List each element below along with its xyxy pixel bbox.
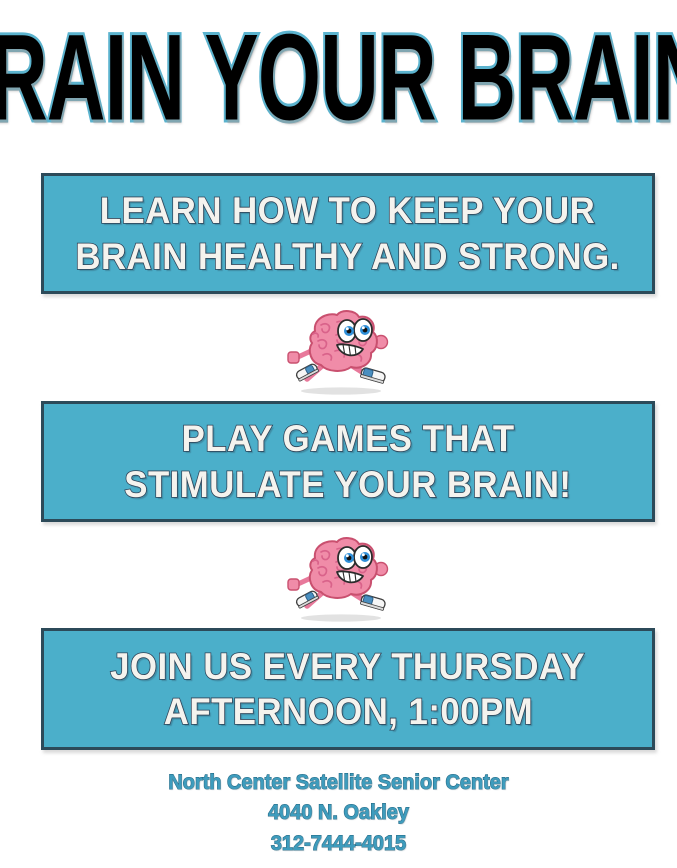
venue-name: North Center Satellite Senior Center [17, 768, 660, 798]
learn-banner-line-1: LEARN HOW TO KEEP YOUR [100, 188, 595, 233]
learn-banner-line-2: BRAIN HEALTHY AND STRONG. [76, 234, 620, 279]
schedule-banner-line-2: AFTERNOON, 1:00PM [163, 689, 532, 734]
schedule-banner: JOIN US EVERY THURSDAY AFTERNOON, 1:00PM [41, 628, 655, 750]
flyer-page: TRAIN YOUR BRAIN! LEARN HOW TO KEEP YOUR… [0, 0, 677, 868]
venue-address: 4040 N. Oakley [17, 798, 660, 828]
learn-banner: LEARN HOW TO KEEP YOUR BRAIN HEALTHY AND… [41, 173, 655, 294]
footer-contact-block: North Center Satellite Senior Center 404… [0, 768, 677, 859]
page-title: TRAIN YOUR BRAIN! [0, 17, 677, 140]
running-brain-icon [279, 305, 399, 397]
title-block: TRAIN YOUR BRAIN! [0, 8, 677, 148]
schedule-banner-line-1: JOIN US EVERY THURSDAY [111, 644, 586, 689]
games-banner-line-2: STIMULATE YOUR BRAIN! [124, 462, 571, 507]
running-brain-icon [279, 532, 399, 624]
games-banner: PLAY GAMES THAT STIMULATE YOUR BRAIN! [41, 401, 655, 522]
games-banner-line-1: PLAY GAMES THAT [182, 416, 515, 461]
venue-phone: 312-7444-4015 [17, 829, 660, 859]
